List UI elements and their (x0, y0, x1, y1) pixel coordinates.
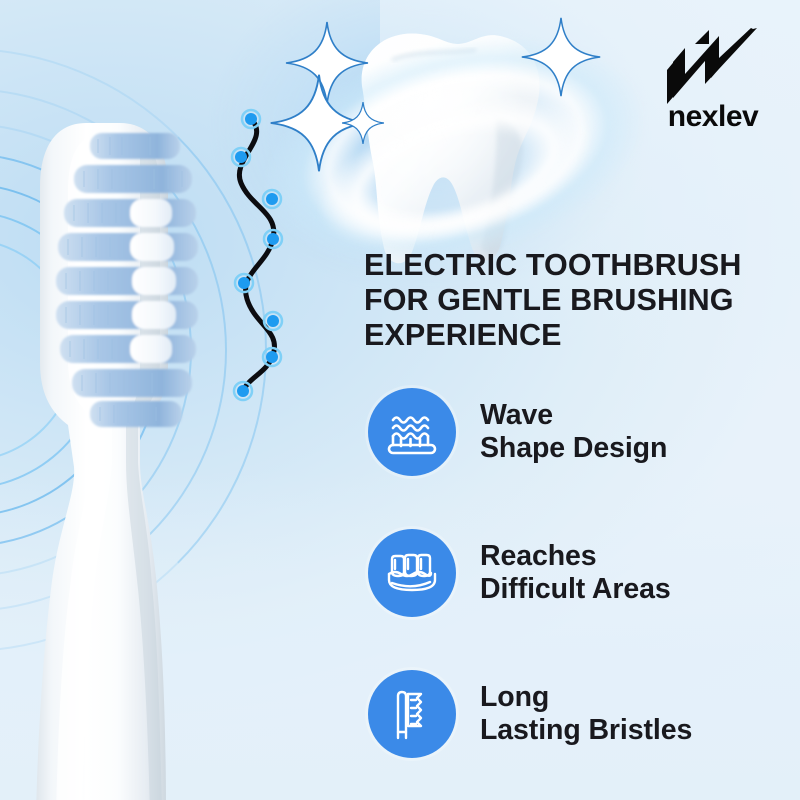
wave-bristle-toothbrush-head-icon (384, 407, 440, 457)
brand-name: nexlev (648, 102, 778, 132)
vertical-brush-head-bristles-icon (387, 686, 437, 742)
feature-line-2: Difficult Areas (480, 573, 671, 606)
teeth-gums-icon (384, 548, 440, 598)
feature-line-1: Long (480, 681, 692, 714)
feature-icon-badge (368, 670, 456, 758)
headline-line-3: EXPERIENCE (364, 318, 788, 353)
feature-list: Wave Shape Design (368, 382, 788, 764)
sparkle-icon (518, 14, 604, 100)
headline-line-2: FOR GENTLE BRUSHING (364, 283, 788, 318)
sparkle-icon (340, 100, 386, 146)
feature-line-2: Lasting Bristles (480, 714, 692, 747)
page-title: ELECTRIC TOOTHBRUSH FOR GENTLE BRUSHING … (364, 248, 788, 354)
feature-line-1: Wave (480, 399, 667, 432)
feature-icon-badge (368, 388, 456, 476)
feature-icon-badge (368, 529, 456, 617)
product-banner: nexlev ELECTRIC TOOTHBRUSH FOR GENTLE BR… (0, 0, 800, 800)
feature-item-reaches-difficult-areas: Reaches Difficult Areas (368, 523, 788, 623)
bristle-wave-marker-line (225, 105, 295, 405)
feature-line-1: Reaches (480, 540, 671, 573)
feature-item-long-lasting-bristles: Long Lasting Bristles (368, 664, 788, 764)
feature-line-2: Shape Design (480, 432, 667, 465)
headline-line-1: ELECTRIC TOOTHBRUSH (364, 248, 788, 283)
feature-item-wave-shape-design: Wave Shape Design (368, 382, 788, 482)
feature-label: Wave Shape Design (480, 399, 667, 466)
nexlev-n-bolt-icon (665, 28, 761, 106)
brand-logo[interactable]: nexlev (648, 28, 778, 132)
feature-label: Long Lasting Bristles (480, 681, 692, 748)
wave-marker-dots (232, 110, 282, 400)
feature-label: Reaches Difficult Areas (480, 540, 671, 607)
tooth-illustration (300, 8, 600, 288)
